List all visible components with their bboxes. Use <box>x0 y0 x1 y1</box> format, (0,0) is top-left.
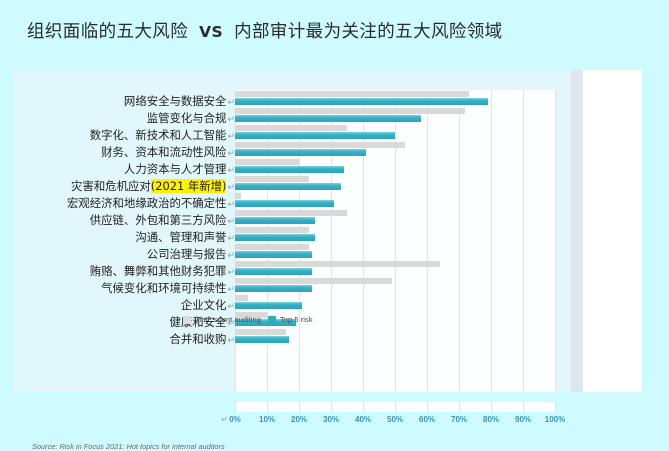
category-label-text: 网络安全与数据安全 <box>124 94 227 108</box>
category-label: 宏观经济和地缘政治的不确定性↵ <box>13 195 235 212</box>
x-axis-tick-label: 100% <box>545 415 565 424</box>
bar-row <box>235 158 555 175</box>
bar-top-5-risk <box>235 98 488 105</box>
bar-time-spent-auditing <box>235 329 286 335</box>
bar-rows <box>235 90 555 345</box>
bar-time-spent-auditing <box>235 108 465 114</box>
bar-row <box>235 124 555 141</box>
category-label: 公司治理与报告↵ <box>13 246 235 263</box>
title-vs: VS <box>188 23 234 41</box>
category-label: 合并和收购↵ <box>13 331 235 348</box>
bar-top-5-risk <box>235 183 341 190</box>
category-label: 贿赂、舞弊和其他财务犯罪↵ <box>13 263 235 280</box>
bar-time-spent-auditing <box>235 261 440 267</box>
category-label: 沟通、管理和声誉↵ <box>13 229 235 246</box>
x-axis-tick-label: 80% <box>483 415 499 424</box>
bar-row <box>235 175 555 192</box>
x-axis-tick-label: 70% <box>451 415 467 424</box>
bar-time-spent-auditing <box>235 244 309 250</box>
bar-top-5-risk <box>235 234 315 241</box>
label-pilcrow-icon: ↵ <box>226 183 235 193</box>
bar-top-5-risk <box>235 268 312 275</box>
category-label: 监管变化与合规↵ <box>13 110 235 127</box>
page-title: 组织面临的五大风险VS内部审计最为关注的五大风险领域 <box>0 0 669 60</box>
bar-row <box>235 90 555 107</box>
category-label-text: 灾害和危机应对 <box>71 179 151 193</box>
label-pilcrow-icon: ↵ <box>226 132 235 142</box>
label-pilcrow-icon: ↵ <box>226 234 235 244</box>
gridline <box>555 90 556 412</box>
bar-row <box>235 192 555 209</box>
legend-item-top-5-risk: Top 5 risk <box>268 315 313 324</box>
category-label: 供应链、外包和第三方风险↵ <box>13 212 235 229</box>
label-pilcrow-icon: ↵ <box>226 98 235 108</box>
label-pilcrow-icon: ↵ <box>226 166 235 176</box>
x-axis-tick-label: 30% <box>323 415 339 424</box>
legend-label-top-5-risk: Top 5 risk <box>280 315 313 324</box>
right-white-panel <box>583 70 642 392</box>
category-label: 气候变化和环境可持续性↵ <box>13 280 235 297</box>
x-axis-tick-label: 20% <box>291 415 307 424</box>
bar-top-5-risk <box>235 336 289 343</box>
bar-top-5-risk <box>235 217 315 224</box>
x-axis: 0%10%20%30%40%50%60%70%80%90%100% <box>235 415 565 429</box>
category-label: 人力资本与人才管理↵ <box>13 161 235 178</box>
bar-top-5-risk <box>235 285 312 292</box>
category-label: 数字化、新技术和人工智能↵ <box>13 127 235 144</box>
title-left: 组织面临的五大风险 <box>27 22 188 42</box>
x-axis-tick-label: 10% <box>259 415 275 424</box>
bar-row <box>235 328 555 345</box>
category-label-highlight: (2021 年新增) <box>151 179 227 193</box>
category-label-text: 宏观经济和地缘政治的不确定性 <box>67 196 226 210</box>
bar-time-spent-auditing <box>235 142 405 148</box>
bar-top-5-risk <box>235 302 302 309</box>
category-label-text: 贿赂、舞弊和其他财务犯罪 <box>90 264 227 278</box>
label-pilcrow-icon: ↵ <box>226 200 235 210</box>
x-axis-tick-label: 90% <box>515 415 531 424</box>
title-text-group: 组织面临的五大风险VS内部审计最为关注的五大风险领域 <box>27 18 503 43</box>
bar-top-5-risk <box>235 251 312 258</box>
title-right: 内部审计最为关注的五大风险领域 <box>234 22 503 42</box>
bar-row <box>235 260 555 277</box>
bar-time-spent-auditing <box>235 193 241 199</box>
bar-top-5-risk <box>235 200 334 207</box>
bar-row <box>235 243 555 260</box>
bar-row <box>235 107 555 124</box>
bar-time-spent-auditing <box>235 91 469 97</box>
category-label: 灾害和危机应对(2021 年新增)↵ <box>13 178 235 195</box>
category-label: 企业文化↵ <box>13 297 235 314</box>
category-label-text: 沟通、管理和声誉 <box>135 230 226 244</box>
label-pilcrow-icon: ↵ <box>226 115 235 125</box>
bar-row <box>235 209 555 226</box>
category-label: 财务、资本和流动性风险↵ <box>13 144 235 161</box>
category-label-text: 气候变化和环境可持续性 <box>101 281 226 295</box>
bar-time-spent-auditing <box>235 278 392 284</box>
label-pilcrow-icon: ↵ <box>226 336 235 346</box>
x-axis-tick-label: 60% <box>419 415 435 424</box>
legend-item-time-spent-auditing: Time spent auditing <box>183 315 261 324</box>
bar-row <box>235 294 555 311</box>
chart-card: 网络安全与数据安全↵监管变化与合规↵数字化、新技术和人工智能↵财务、资本和流动性… <box>13 70 642 392</box>
bar-time-spent-auditing <box>235 159 299 165</box>
slide-root: 组织面临的五大风险VS内部审计最为关注的五大风险领域 网络安全与数据安全↵监管变… <box>0 0 669 402</box>
axis-pilcrow-icon: ↵ <box>221 415 228 424</box>
bar-time-spent-auditing <box>235 125 347 131</box>
bar-top-5-risk <box>235 149 366 156</box>
category-label-text: 数字化、新技术和人工智能 <box>90 128 227 142</box>
bar-time-spent-auditing <box>235 295 248 301</box>
legend-swatch-gray-icon <box>183 316 191 324</box>
x-axis-tick-label: 50% <box>387 415 403 424</box>
category-label-text: 财务、资本和流动性风险 <box>101 145 226 159</box>
bar-row <box>235 141 555 158</box>
category-label-text: 公司治理与报告 <box>147 247 227 261</box>
source-note: Source: Risk in Focus 2021: Hot topics f… <box>32 442 225 451</box>
category-label-text: 企业文化 <box>181 298 227 312</box>
bar-top-5-risk <box>235 115 421 122</box>
category-label-text: 供应链、外包和第三方风险 <box>90 213 227 227</box>
bar-time-spent-auditing <box>235 176 309 182</box>
category-label-text: 人力资本与人才管理 <box>124 162 227 176</box>
bar-top-5-risk <box>235 166 344 173</box>
bar-time-spent-auditing <box>235 227 309 233</box>
category-label: 网络安全与数据安全↵ <box>13 93 235 110</box>
category-label-text: 监管变化与合规 <box>147 111 227 125</box>
x-axis-tick-label: 0% <box>229 415 241 424</box>
chart-legend: Time spent auditing Top 5 risk <box>183 315 313 324</box>
legend-label-time-spent-auditing: Time spent auditing <box>195 315 261 324</box>
label-pilcrow-icon: ↵ <box>226 268 235 278</box>
plot-area <box>235 90 555 414</box>
bar-time-spent-auditing <box>235 210 347 216</box>
category-label-column: 网络安全与数据安全↵监管变化与合规↵数字化、新技术和人工智能↵财务、资本和流动性… <box>13 93 235 348</box>
label-pilcrow-icon: ↵ <box>226 302 235 312</box>
bar-row <box>235 277 555 294</box>
label-pilcrow-icon: ↵ <box>226 217 235 227</box>
bottom-strip <box>0 392 669 402</box>
category-label-text: 合并和收购 <box>169 332 226 346</box>
x-axis-tick-label: 40% <box>355 415 371 424</box>
label-pilcrow-icon: ↵ <box>226 285 235 295</box>
legend-swatch-teal-icon <box>268 316 276 324</box>
label-pilcrow-icon: ↵ <box>226 251 235 261</box>
label-pilcrow-icon: ↵ <box>226 149 235 159</box>
bar-row <box>235 226 555 243</box>
bar-top-5-risk <box>235 132 395 139</box>
